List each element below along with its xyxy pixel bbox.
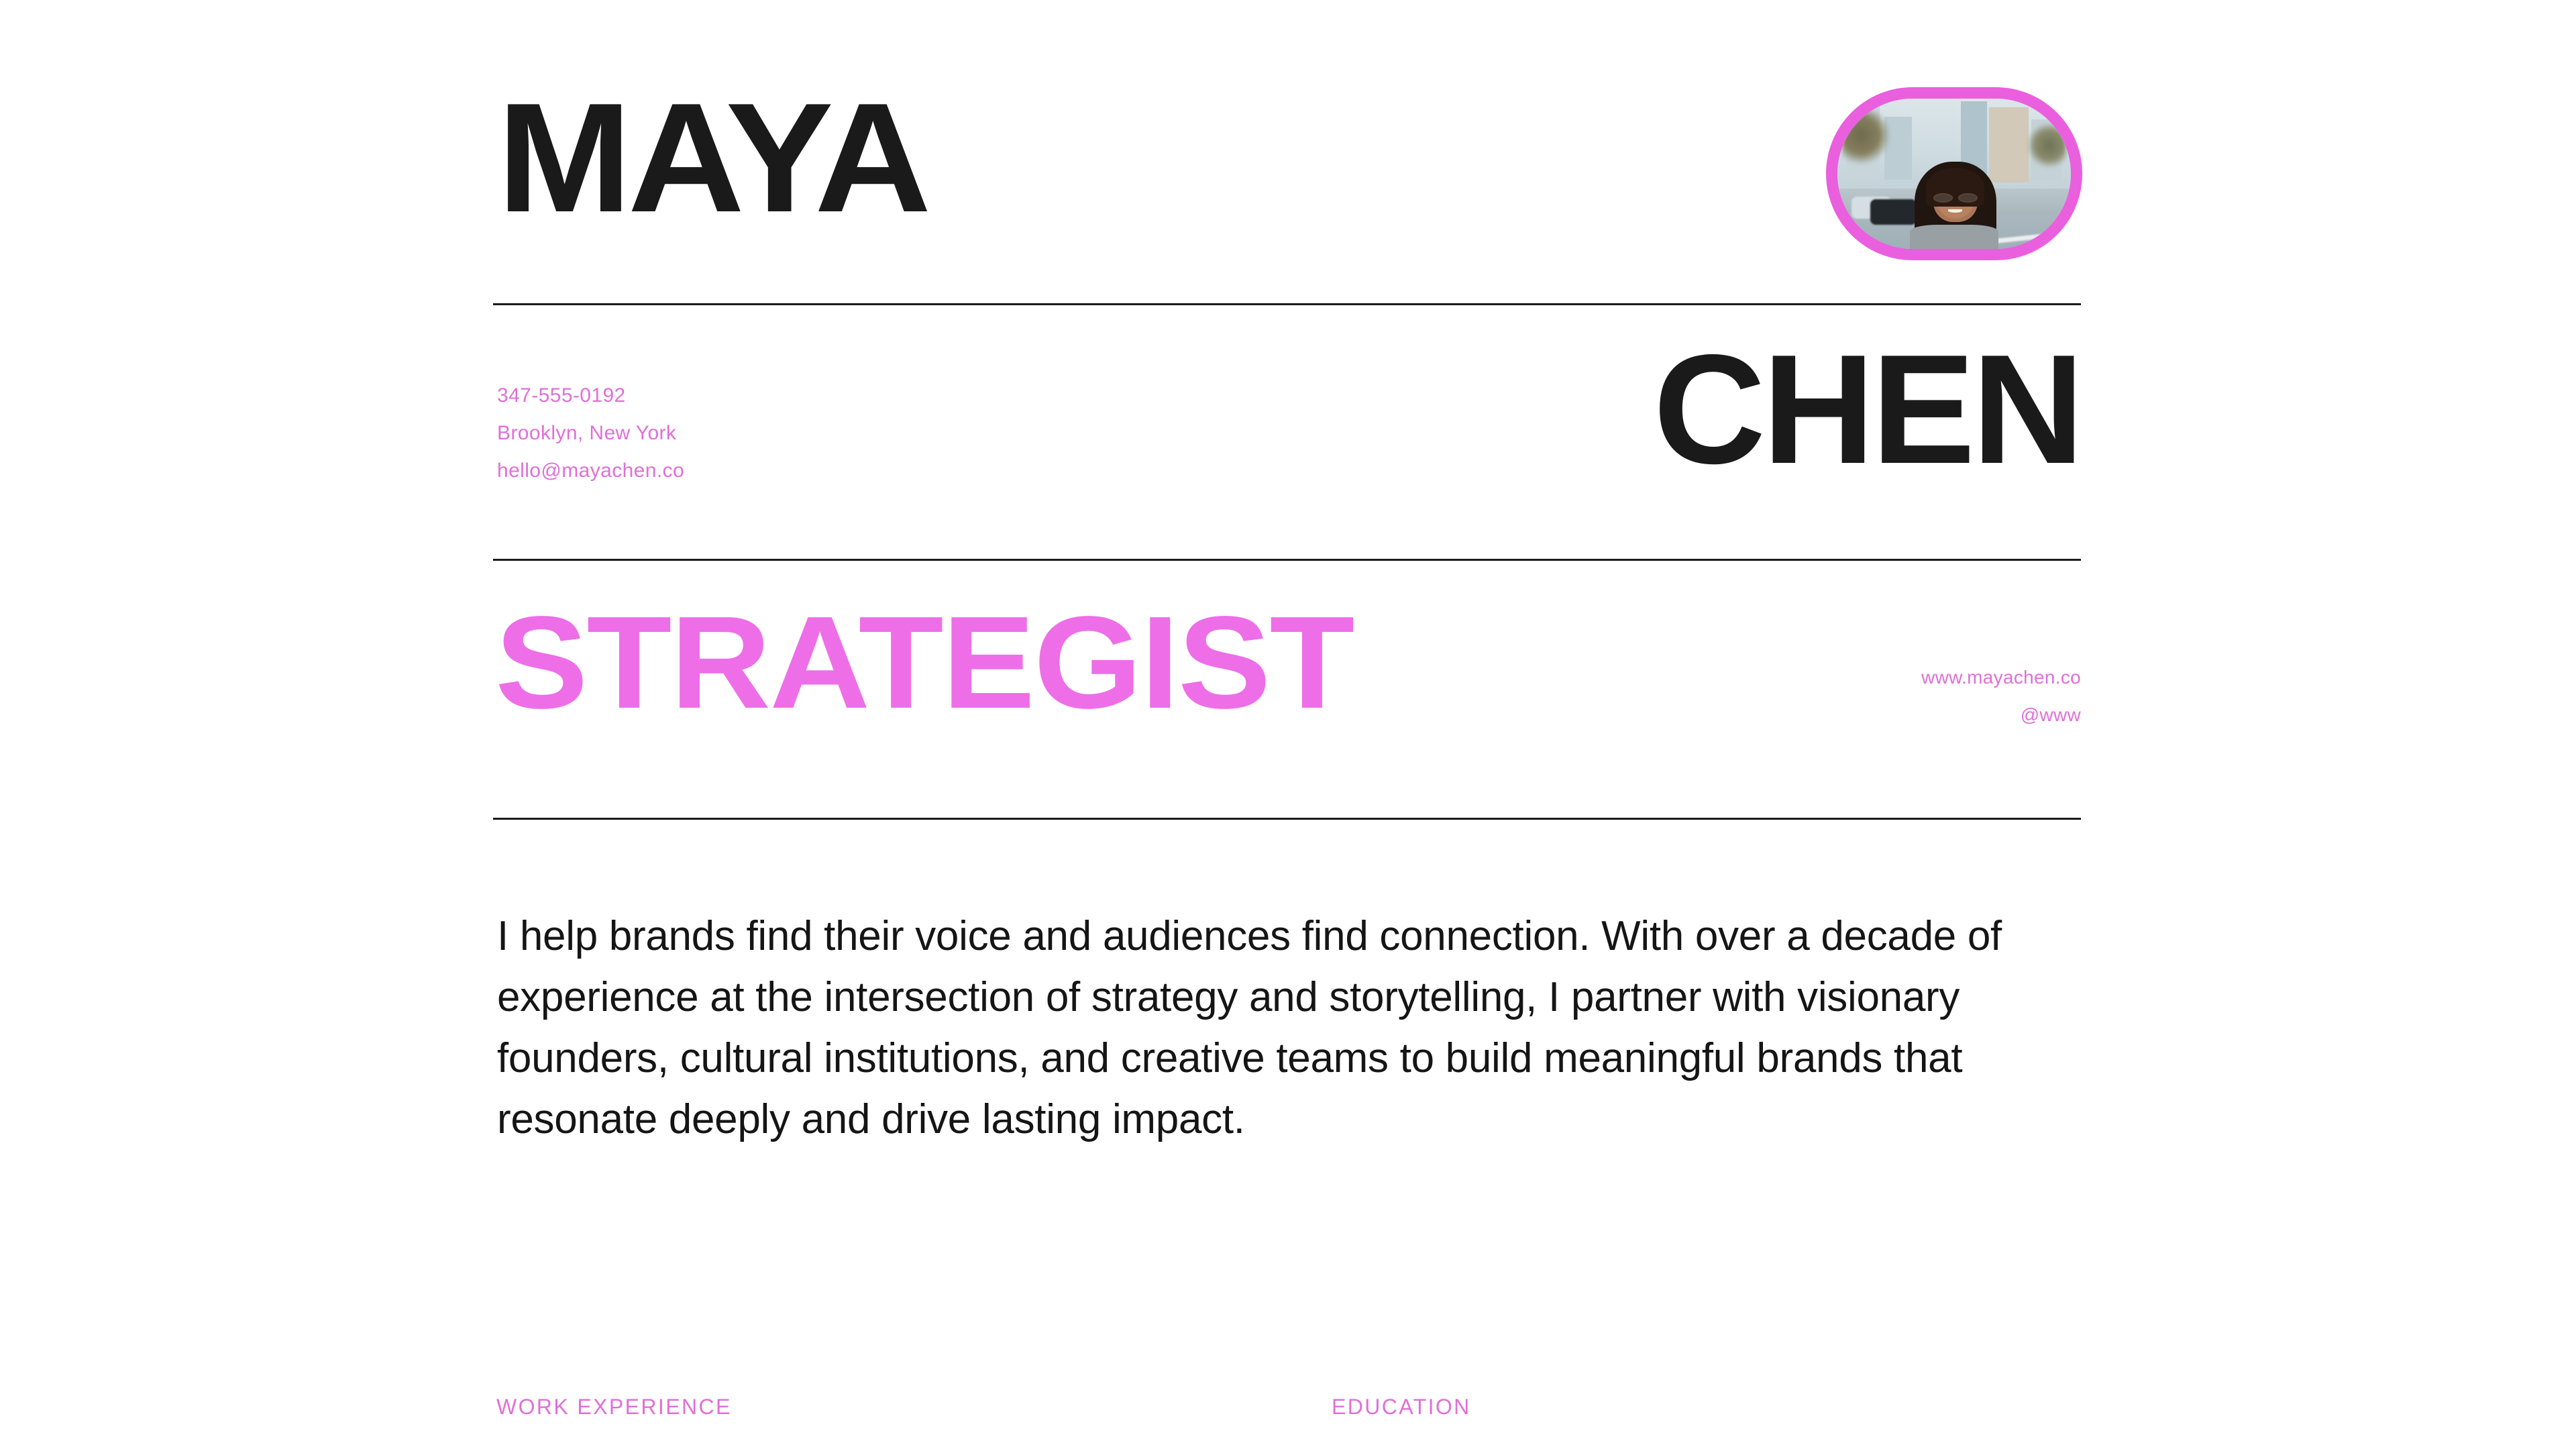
contact-email[interactable]: hello@mayachen.co	[497, 452, 684, 490]
link-social[interactable]: @www	[1921, 696, 2081, 734]
section-heading-work-experience: WORK EXPERIENCE	[496, 1394, 732, 1419]
divider-top	[493, 303, 2081, 305]
contact-location: Brooklyn, New York	[497, 415, 684, 452]
glasses-lens-right	[1958, 193, 1978, 202]
avatar	[1826, 87, 2082, 260]
photo-building	[1989, 107, 2029, 182]
page-title-last-name: CHEN	[1654, 332, 2081, 488]
divider-bottom	[493, 818, 2081, 820]
links-block: www.mayachen.co @www	[1921, 659, 2081, 734]
glasses-lens-left	[1933, 193, 1953, 202]
photo-tree	[2029, 123, 2066, 168]
photo-person-torso	[1910, 225, 1998, 249]
job-title: STRATEGIST	[495, 597, 1353, 729]
section-heading-education: EDUCATION	[1332, 1394, 1471, 1419]
photo-tree	[1842, 111, 1889, 165]
resume-page: MAYA 347-5	[0, 0, 2576, 1449]
photo-car	[1870, 199, 1917, 225]
page-title-first-name: MAYA	[497, 80, 927, 236]
avatar-photo	[1837, 99, 2071, 249]
profile-summary: I help brands find their voice and audie…	[497, 906, 2087, 1150]
divider-middle	[493, 559, 2081, 561]
link-website[interactable]: www.mayachen.co	[1921, 659, 2081, 696]
photo-person-glasses	[1933, 193, 1978, 202]
contact-phone[interactable]: 347-555-0192	[497, 377, 684, 415]
contact-block: 347-555-0192 Brooklyn, New York hello@ma…	[497, 377, 684, 490]
